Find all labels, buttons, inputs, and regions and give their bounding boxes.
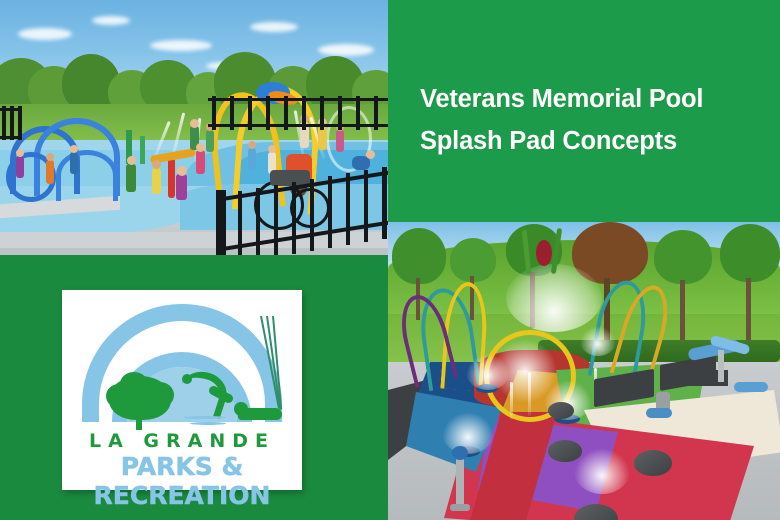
- water-spray: [506, 264, 602, 332]
- fence-left: [0, 106, 22, 140]
- play-feature-post: [718, 350, 724, 382]
- arch-sprayer-icon: [56, 150, 118, 201]
- post-sprayer-icon: [168, 158, 175, 198]
- bollard-icon: [456, 454, 464, 508]
- title-line-2: Splash Pad Concepts: [420, 120, 770, 162]
- boulder-icon: [634, 450, 672, 476]
- wave-icon: [190, 422, 226, 425]
- boulder-icon: [548, 440, 582, 462]
- boulder-icon: [548, 402, 574, 419]
- tree-icon: [392, 228, 446, 284]
- play-feature-icon: [734, 382, 768, 392]
- diver-icon: [180, 372, 238, 412]
- post-sprayer-icon: [140, 136, 145, 164]
- logo-text-parks-recreation: PARKS & RECREATION: [62, 452, 302, 510]
- feature-top-icon: [536, 240, 552, 266]
- cloud-icon: [150, 40, 212, 51]
- bollard-head-icon: [452, 446, 468, 460]
- fence-foreground: [216, 170, 390, 266]
- splash-pad-rendering-bottom-right: [388, 222, 780, 520]
- tree-icon: [654, 230, 712, 284]
- cloud-icon: [92, 16, 130, 25]
- splash-pad-rendering-top-left: [0, 0, 390, 266]
- tree-trunk: [136, 410, 142, 430]
- page-title: Veterans Memorial Pool Splash Pad Concep…: [420, 78, 770, 162]
- parks-recreation-logo: LA GRANDE PARKS & RECREATION: [62, 290, 302, 490]
- play-feature-icon: [646, 408, 672, 418]
- cloud-icon: [18, 28, 72, 40]
- wave-icon: [184, 416, 226, 419]
- logo-text-la-grande: LA GRANDE: [62, 430, 302, 452]
- poster-canvas: Veterans Memorial Pool Splash Pad Concep…: [0, 0, 780, 520]
- fence-back: [208, 96, 390, 130]
- title-line-1: Veterans Memorial Pool: [420, 78, 770, 120]
- title-panel: Veterans Memorial Pool Splash Pad Concep…: [388, 0, 780, 224]
- swing-rider-icon: [234, 402, 248, 416]
- tree-icon: [720, 224, 780, 282]
- cloud-icon: [250, 22, 298, 32]
